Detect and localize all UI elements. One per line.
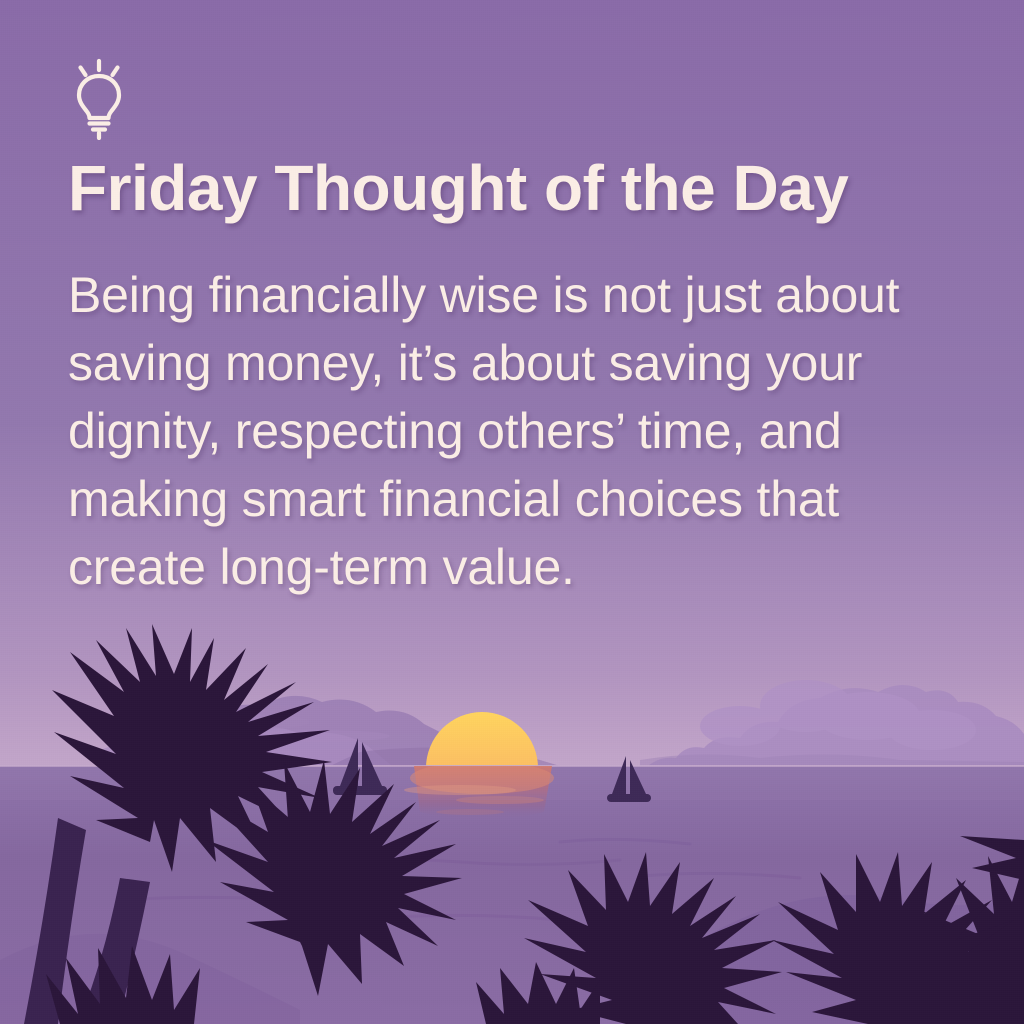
lightbulb-icon [68, 58, 130, 140]
quote-text: Being financially wise is not just about… [68, 261, 964, 601]
page-title: Friday Thought of the Day [68, 154, 964, 223]
sun-reflection-streak-3 [436, 809, 504, 815]
poster-content: Friday Thought of the Day Being financia… [0, 0, 1024, 601]
poster-canvas: Friday Thought of the Day Being financia… [0, 0, 1024, 1024]
